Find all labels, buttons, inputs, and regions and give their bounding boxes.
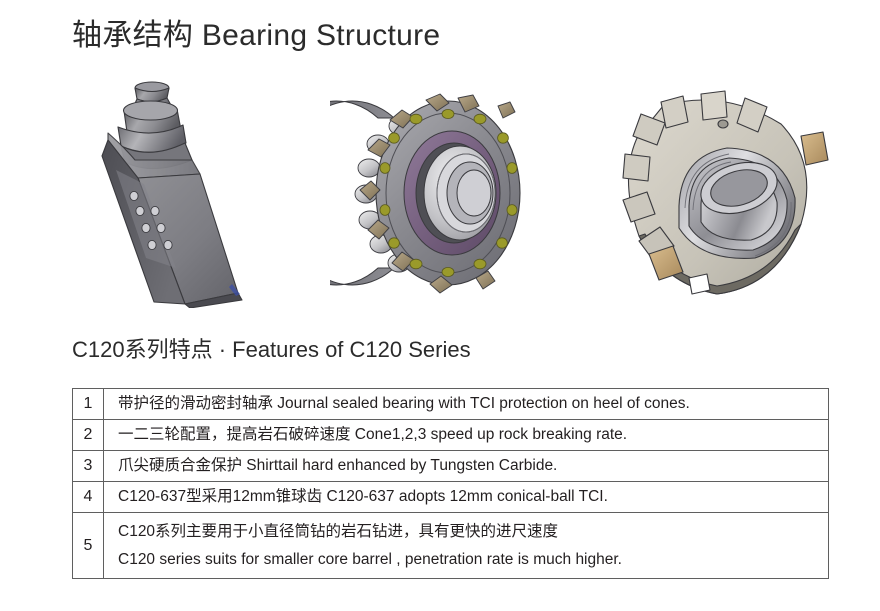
row-text-line: C120-637型采用12mm锥球齿 C120-637 adopts 12mm … bbox=[118, 485, 828, 509]
row-text: C120-637型采用12mm锥球齿 C120-637 adopts 12mm … bbox=[104, 482, 829, 513]
row-index: 5 bbox=[73, 513, 104, 579]
row-text-line: C120系列主要用于小直径筒钻的岩石钻进，具有更快的进尺速度 bbox=[118, 520, 828, 544]
figure-cone-cutaway-section bbox=[605, 78, 840, 308]
row-index: 2 bbox=[73, 420, 104, 451]
row-text-line: 爪尖硬质合金保护 Shirttail hard enhanced by Tung… bbox=[118, 454, 828, 478]
row-text: 带护径的滑动密封轴承 Journal sealed bearing with T… bbox=[104, 389, 829, 420]
page-title: 轴承结构 Bearing Structure bbox=[72, 10, 440, 54]
row-text-line: 带护径的滑动密封轴承 Journal sealed bearing with T… bbox=[118, 392, 828, 416]
table-row: 1 带护径的滑动密封轴承 Journal sealed bearing with… bbox=[73, 389, 829, 420]
row-index: 1 bbox=[73, 389, 104, 420]
figure-bearing-journal-leg bbox=[80, 78, 310, 308]
features-table: 1 带护径的滑动密封轴承 Journal sealed bearing with… bbox=[72, 388, 829, 579]
table-row: 4 C120-637型采用12mm锥球齿 C120-637 adopts 12m… bbox=[73, 482, 829, 513]
row-index: 4 bbox=[73, 482, 104, 513]
table-row: 5 C120系列主要用于小直径筒钻的岩石钻进，具有更快的进尺速度 C120 se… bbox=[73, 513, 829, 579]
section-subtitle: C120系列特点 · Features of C120 Series bbox=[72, 332, 471, 364]
table-row: 2 一二三轮配置，提高岩石破碎速度 Cone1,2,3 speed up roc… bbox=[73, 420, 829, 451]
figure-strip bbox=[0, 78, 880, 318]
row-index: 3 bbox=[73, 451, 104, 482]
table-row: 3 爪尖硬质合金保护 Shirttail hard enhanced by Tu… bbox=[73, 451, 829, 482]
row-text-line: 一二三轮配置，提高岩石破碎速度 Cone1,2,3 speed up rock … bbox=[118, 423, 828, 447]
row-text: C120系列主要用于小直径筒钻的岩石钻进，具有更快的进尺速度 C120 seri… bbox=[104, 513, 829, 579]
row-text: 爪尖硬质合金保护 Shirttail hard enhanced by Tung… bbox=[104, 451, 829, 482]
figure-cone-cutter-ball-race bbox=[330, 78, 550, 308]
row-text: 一二三轮配置，提高岩石破碎速度 Cone1,2,3 speed up rock … bbox=[104, 420, 829, 451]
row-text-line: C120 series suits for smaller core barre… bbox=[118, 548, 828, 572]
